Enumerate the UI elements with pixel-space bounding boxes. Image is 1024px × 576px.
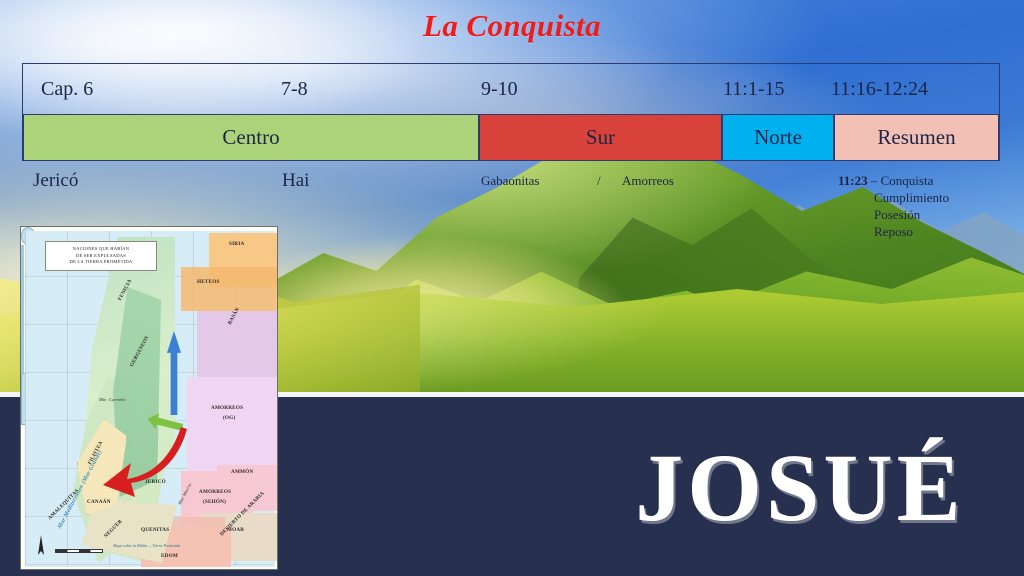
section-band-sur: Sur [479,114,722,161]
summary-item-3: Reposo [838,223,949,240]
map-label-siria: SIRIA [229,241,244,247]
chapter-cell-4: 11:16-12:24 [831,64,1001,114]
map-region-amorreos-og [187,377,278,477]
section-band-centro: Centro [23,114,479,161]
chapter-cell-1: 7-8 [281,64,401,114]
map-label-quenitas: QUENITAS [141,527,169,533]
map-label-amorreos: AMORREOS [211,405,243,411]
map-label-edom: EDOM [161,553,178,559]
map-label-og: (OG) [223,415,235,421]
chapter-cell-3: 11:1-15 [723,64,843,114]
map-legend-line-2: de la Tierra Prometida [49,259,153,266]
map-region-heteos [181,267,278,311]
map-label-mte-carmelo: Mte. Carmelo [99,397,126,402]
chapter-reference-row: Cap. 67-89-1011:1-1511:16-12:24 [23,64,999,114]
summary-item-1: Cumplimiento [838,189,949,206]
map-compass-icon [35,535,47,561]
summary-item-0: Conquista [881,173,934,188]
promised-land-map: Naciones que habían de ser expulsadas de… [20,226,278,570]
sub-label-1: Hai [282,170,309,192]
conquest-outline-table: Cap. 67-89-1011:1-1511:16-12:24 CentroSu… [22,63,1000,161]
map-label-cana-n: CANAÁN [87,499,111,505]
section-band-row: CentroSurNorteResumen [23,114,999,161]
map-jordan-river [21,245,24,373]
sub-label-4: Amorreos [622,173,674,189]
summary-dash: – [871,173,878,188]
map-credit-text: Mapa sobre la Biblia — Tierra Prometida [113,543,180,548]
summary-first-line: 11:23 – Conquista [838,172,949,189]
chapter-cell-0: Cap. 6 [41,64,241,114]
map-red-arrow-icon [101,423,187,497]
summary-item-2: Posesión [838,206,949,223]
sub-label-2: Gabaonitas [481,173,539,189]
slide-title: La Conquista [0,8,1024,44]
map-label-heteos: HETEOS [197,279,220,285]
slide-canvas: La Conquista Cap. 67-89-1011:1-1511:16-1… [0,0,1024,576]
summary-reference: 11:23 [838,173,868,188]
sub-label-3: / [597,173,601,189]
chapter-cell-2: 9-10 [481,64,601,114]
map-scale-bar [55,549,103,553]
map-label-amorreos: AMORREOS [199,489,231,495]
map-label-amm-n: AMMÓN [231,469,253,475]
section-band-norte: Norte [722,114,834,161]
map-legend-box: Naciones que habían de ser expulsadas de… [45,241,157,271]
map-label-jeric: JERICÓ [145,479,166,485]
sub-label-0: Jericó [33,170,78,192]
book-title-wordmark: JOSUÉ [600,432,1000,542]
section-band-resumen: Resumen [834,114,999,161]
summary-list: 11:23 – Conquista Cumplimiento Posesión … [838,172,949,240]
map-label-seh-n: (SEHÓN) [203,499,226,505]
